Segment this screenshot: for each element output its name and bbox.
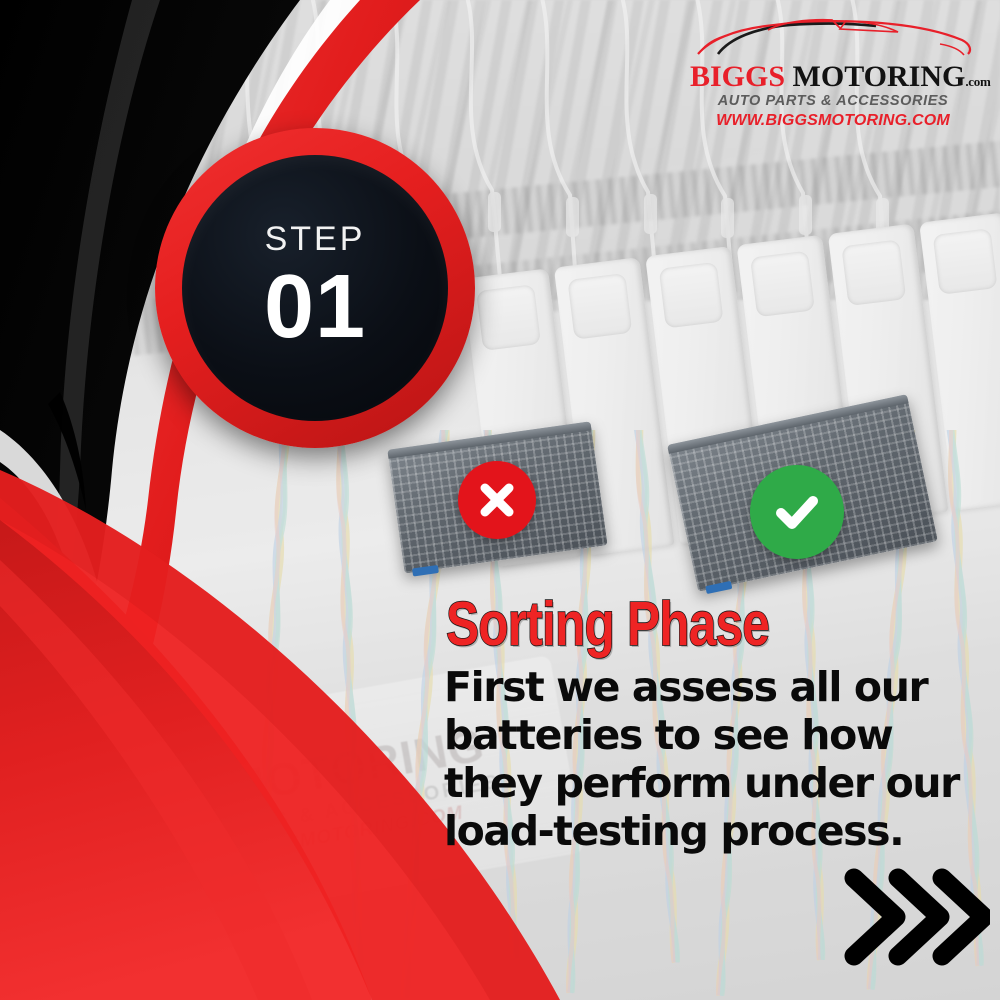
approve-marker xyxy=(750,465,844,559)
step-label: STEP xyxy=(265,220,366,259)
poster-canvas: MOTORING ARTS & ACCESSORIES GSMOTORING.C… xyxy=(0,0,1000,1000)
sports-car-outline-icon xyxy=(690,14,976,62)
logo-biggs-text: BIGGS xyxy=(690,60,785,93)
body-line: First we assess all our xyxy=(444,664,924,712)
cross-icon xyxy=(474,477,520,523)
body-line: batteries to see how xyxy=(444,712,924,760)
body-copy: First we assess all our batteries to see… xyxy=(444,664,924,856)
logo-website-url[interactable]: WWW.BIGGSMOTORING.COM xyxy=(690,112,976,130)
logo-tagline: AUTO PARTS & ACCESSORIES xyxy=(690,93,976,109)
headline: Sorting Phase xyxy=(446,594,769,656)
logo-dotcom-text: .com xyxy=(965,74,990,89)
logo-motoring-text: MOTORING xyxy=(785,60,965,93)
logo-wordmark: BIGGS MOTORING.com xyxy=(690,62,976,92)
step-badge: STEP 01 xyxy=(155,128,475,448)
check-icon xyxy=(769,484,825,540)
step-number: 01 xyxy=(264,265,366,351)
step-badge-inner: STEP 01 xyxy=(182,155,448,421)
body-line: load-testing process. xyxy=(444,808,924,856)
body-line: they perform under our xyxy=(444,760,924,808)
chevron-triple-right-icon[interactable] xyxy=(840,862,990,972)
reject-marker xyxy=(458,461,536,539)
brand-logo[interactable]: BIGGS MOTORING.com AUTO PARTS & ACCESSOR… xyxy=(690,14,976,130)
